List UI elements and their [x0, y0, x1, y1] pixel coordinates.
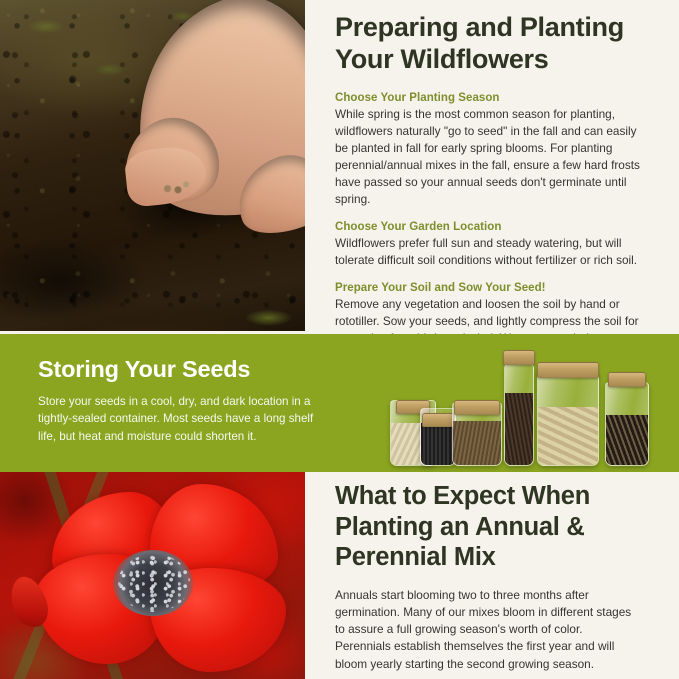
poppy-stamens [118, 554, 190, 612]
poppy-flower-photo [0, 472, 305, 679]
jar-4-tall [504, 364, 534, 466]
seed-jars-photo [382, 345, 674, 470]
preparing-text-column: Preparing and Planting Your Wildflowers … [305, 0, 679, 334]
body-garden-location: Wildflowers prefer full sun and steady w… [335, 235, 645, 269]
storing-heading: Storing Your Seeds [38, 356, 328, 383]
jar-5-cork [537, 362, 599, 378]
jar-4-cork [503, 350, 535, 365]
panel-storing-your-seeds: Storing Your Seeds Store your seeds in a… [0, 334, 679, 472]
jar-2-seeds [421, 423, 455, 465]
page-title: Preparing and Planting Your Wildflowers [305, 0, 679, 76]
expectations-body: Annuals start blooming two to three mont… [305, 573, 679, 673]
section-planting-season: Choose Your Planting Season While spring… [305, 92, 679, 208]
expectations-text-column: What to Expect When Planting an Annual &… [305, 472, 679, 679]
storing-body: Store your seeds in a cool, dry, and dar… [38, 393, 328, 445]
jar-2-cork [422, 413, 454, 427]
wildflower-planting-infographic: Preparing and Planting Your Wildflowers … [0, 0, 679, 679]
jar-5-large [537, 372, 599, 466]
jar-6-cork [608, 372, 646, 387]
jar-6-seeds [606, 415, 648, 465]
jar-6 [605, 382, 649, 466]
jar-3-seeds [453, 421, 501, 465]
body-planting-season: While spring is the most common season f… [335, 106, 645, 208]
subheading-prepare-soil: Prepare Your Soil and Sow Your Seed! [335, 282, 645, 294]
subheading-garden-location: Choose Your Garden Location [335, 221, 645, 233]
panel-preparing-and-planting: Preparing and Planting Your Wildflowers … [0, 0, 679, 334]
storing-text-column: Storing Your Seeds Store your seeds in a… [0, 334, 328, 445]
subheading-planting-season: Choose Your Planting Season [335, 92, 645, 104]
jar-4-seeds [505, 393, 533, 465]
panel-what-to-expect: What to Expect When Planting an Annual &… [0, 472, 679, 679]
section-garden-location: Choose Your Garden Location Wildflowers … [305, 221, 679, 269]
jar-3-cork [454, 400, 500, 415]
expectations-heading: What to Expect When Planting an Annual &… [305, 472, 679, 573]
soil-planting-photo [0, 0, 305, 331]
jar-5-seeds [538, 407, 598, 465]
